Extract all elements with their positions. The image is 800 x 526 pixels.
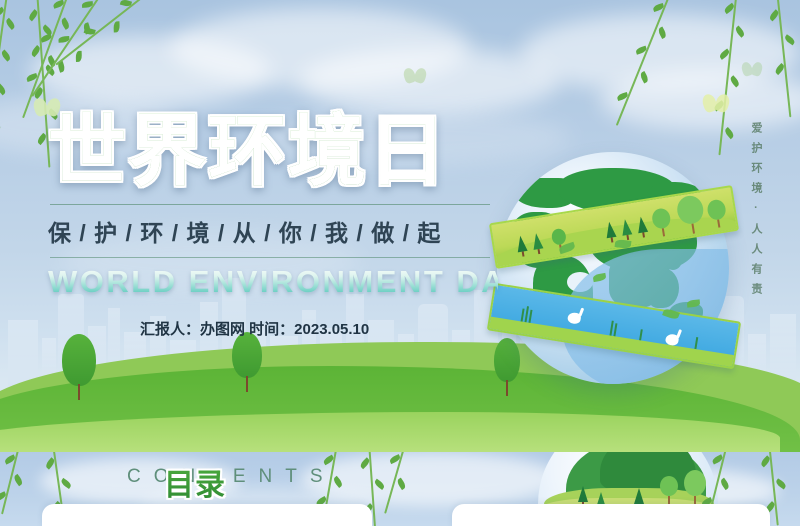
vertical-slogan: 爱护环境·人人有责 [742,122,764,303]
tree-icon [232,332,262,392]
contents-slide: CONTENTS 目录 [0,452,800,526]
page-title: 世界环境日 [48,108,498,194]
subtitle-chinese: 保 / 护 / 环 / 境 / 从 / 你 / 我 / 做 / 起 [48,214,498,248]
butterfly-icon [404,68,426,85]
title-slide: 世界环境日 保 / 护 / 环 / 境 / 从 / 你 / 我 / 做 / 起 … [0,0,800,452]
divider-bottom [50,257,490,258]
slide-deck-canvas: 世界环境日 保 / 护 / 环 / 境 / 从 / 你 / 我 / 做 / 起 … [0,0,800,526]
divider-top [50,204,490,205]
tree-icon [62,334,96,400]
presenter-meta: 汇报人：办图网 时间：2023.05.10 [140,318,498,339]
content-card-left[interactable] [42,504,372,526]
contents-chinese-label: 目录 [164,460,226,504]
content-card-right[interactable] [452,504,770,526]
butterfly-icon [742,62,762,78]
earth-globe-illustration [497,152,729,384]
swan-icon [567,312,582,325]
subtitle-english: WORLD ENVIRONMENT DAY [48,264,498,300]
title-block: 世界环境日 保 / 护 / 环 / 境 / 从 / 你 / 我 / 做 / 起 … [48,108,498,339]
contents-english-label: CONTENTS [127,466,336,488]
butterfly-icon [703,94,729,114]
